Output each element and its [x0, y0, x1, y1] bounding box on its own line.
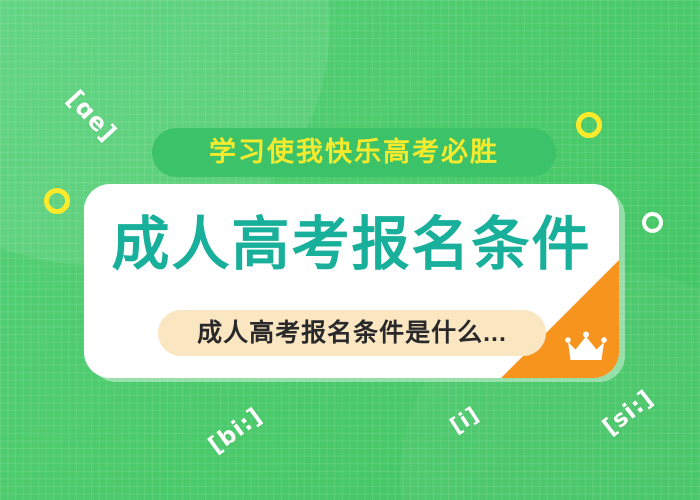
- subtitle-text: 成人高考报名条件是什么...: [197, 321, 507, 346]
- subtitle-pill: 成人高考报名条件是什么...: [158, 310, 546, 356]
- poster-canvas: [ɑe] [bi:] [i] [si:] 学习使我快乐高考必胜 成人高考报名条件…: [0, 0, 700, 500]
- decor-ring-yellow-right: [576, 112, 602, 138]
- decor-ring-white-right: [642, 212, 663, 233]
- slogan-banner: 学习使我快乐高考必胜: [152, 128, 556, 177]
- decor-ring-yellow-left: [44, 188, 70, 214]
- slogan-text: 学习使我快乐高考必胜: [209, 139, 499, 166]
- main-card: 成人高考报名条件 成人高考报名条件是什么...: [84, 184, 619, 378]
- crown-icon: [565, 331, 607, 365]
- page-title: 成人高考报名条件: [84, 216, 619, 274]
